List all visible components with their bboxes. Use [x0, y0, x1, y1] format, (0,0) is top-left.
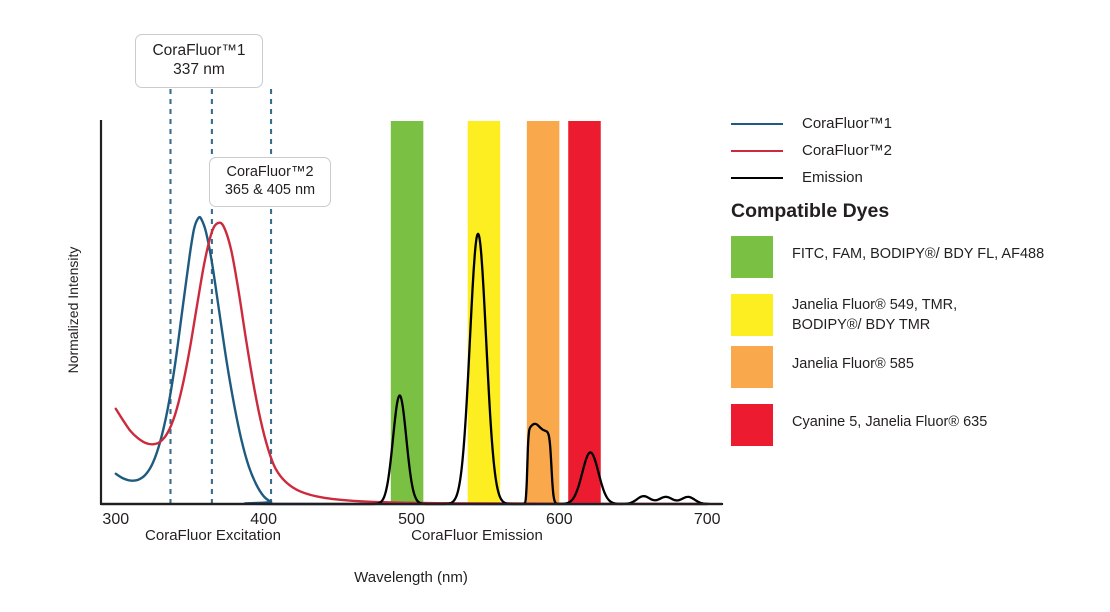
x-axis-sublabel-excitation: CoraFluor Excitation: [145, 527, 281, 544]
excitation-marker-group: [170, 89, 271, 504]
dye-color-swatch-3: [731, 404, 773, 446]
dye-label-2: Janelia Fluor® 585: [792, 346, 914, 374]
dye-label-3: Cyanine 5, Janelia Fluor® 635: [792, 404, 987, 432]
callout-corafluor2: CoraFluor™2 365 & 405 nm: [209, 157, 331, 207]
callout-corafluor1-line2: 337 nm: [136, 61, 262, 80]
dye-color-swatch-0: [731, 236, 773, 278]
callout-corafluor2-line1: CoraFluor™2: [210, 164, 330, 182]
legend-label-0: CoraFluor™1: [802, 115, 892, 132]
compatible-dyes-list: FITC, FAM, BODIPY®/ BDY FL, AF488Janelia…: [731, 236, 1101, 462]
dye-label-0: FITC, FAM, BODIPY®/ BDY FL, AF488: [792, 236, 1044, 264]
x-tick-label-group: 300400500600700: [102, 511, 720, 528]
dye-row-3[interactable]: Cyanine 5, Janelia Fluor® 635: [731, 404, 1101, 446]
legend-label-1: CoraFluor™2: [802, 142, 892, 159]
x-tick-label-300: 300: [102, 511, 129, 528]
series-legend: CoraFluor™1CoraFluor™2Emission: [731, 110, 1091, 191]
compatible-dyes-title: Compatible Dyes: [731, 200, 889, 223]
x-axis-title: Wavelength (nm): [354, 569, 468, 586]
dye-row-1[interactable]: Janelia Fluor® 549, TMR,BODIPY®/ BDY TMR: [731, 294, 1101, 336]
dye-label-line2-1: BODIPY®/ BDY TMR: [792, 315, 957, 335]
dye-color-swatch-1: [731, 294, 773, 336]
dye-label-line1-1: Janelia Fluor® 549, TMR,: [792, 295, 957, 315]
dye-row-2[interactable]: Janelia Fluor® 585: [731, 346, 1101, 388]
x-tick-label-700: 700: [694, 511, 721, 528]
dye-label-line1-3: Cyanine 5, Janelia Fluor® 635: [792, 412, 987, 432]
emission-band-group: [391, 121, 601, 504]
dye-color-swatch-2: [731, 346, 773, 388]
legend-item-1[interactable]: CoraFluor™2: [731, 137, 1091, 164]
callout-corafluor2-line2: 365 & 405 nm: [210, 182, 330, 200]
legend-line-swatch-0: [731, 123, 783, 125]
legend-line-swatch-2: [731, 177, 783, 179]
legend-label-2: Emission: [802, 169, 863, 186]
legend-item-0[interactable]: CoraFluor™1: [731, 110, 1091, 137]
spectra-figure: 300400500600700 Normalized Intensity Cor…: [0, 0, 1110, 612]
dye-label-1: Janelia Fluor® 549, TMR,BODIPY®/ BDY TMR: [792, 294, 957, 335]
dye-row-0[interactable]: FITC, FAM, BODIPY®/ BDY FL, AF488: [731, 236, 1101, 278]
callout-corafluor1-line1: CoraFluor™1: [136, 42, 262, 61]
y-axis-title: Normalized Intensity: [65, 247, 81, 374]
x-tick-label-500: 500: [398, 511, 425, 528]
emission-band-3: [568, 121, 601, 504]
x-axis-sublabel-emission: CoraFluor Emission: [411, 527, 543, 544]
dye-label-line1-0: FITC, FAM, BODIPY®/ BDY FL, AF488: [792, 244, 1044, 264]
dye-label-line1-2: Janelia Fluor® 585: [792, 354, 914, 374]
emission-band-2: [527, 121, 560, 504]
callout-corafluor1: CoraFluor™1 337 nm: [135, 34, 263, 88]
x-tick-label-400: 400: [250, 511, 277, 528]
x-tick-label-600: 600: [546, 511, 573, 528]
legend-item-2[interactable]: Emission: [731, 164, 1091, 191]
legend-line-swatch-1: [731, 150, 783, 152]
